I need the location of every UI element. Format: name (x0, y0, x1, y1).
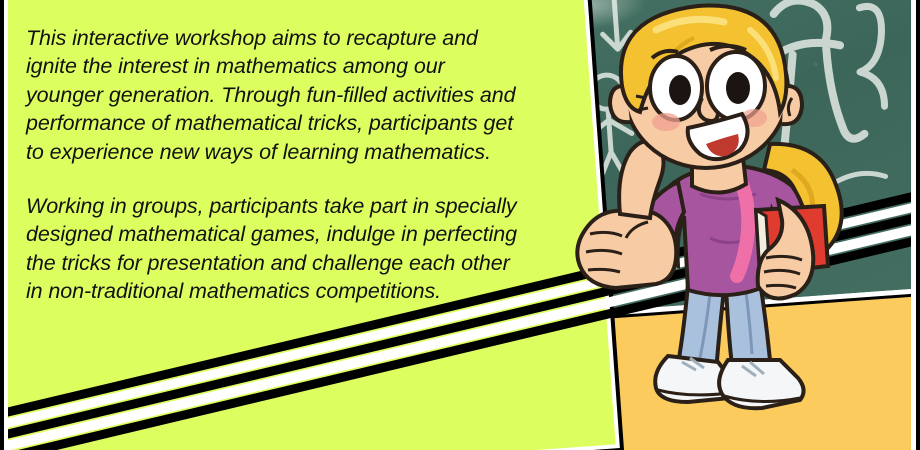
frame-white-left (4, 0, 8, 450)
paragraph-2: Working in groups, participants take par… (26, 192, 518, 306)
slide-canvas: This interactive workshop aims to recapt… (0, 0, 920, 450)
schoolgirl-illustration (560, 0, 920, 444)
body-text: This interactive workshop aims to recapt… (26, 24, 518, 306)
shoe-right (719, 360, 803, 408)
frame-white-right (911, 0, 916, 450)
paragraph-1: This interactive workshop aims to recapt… (26, 24, 518, 166)
